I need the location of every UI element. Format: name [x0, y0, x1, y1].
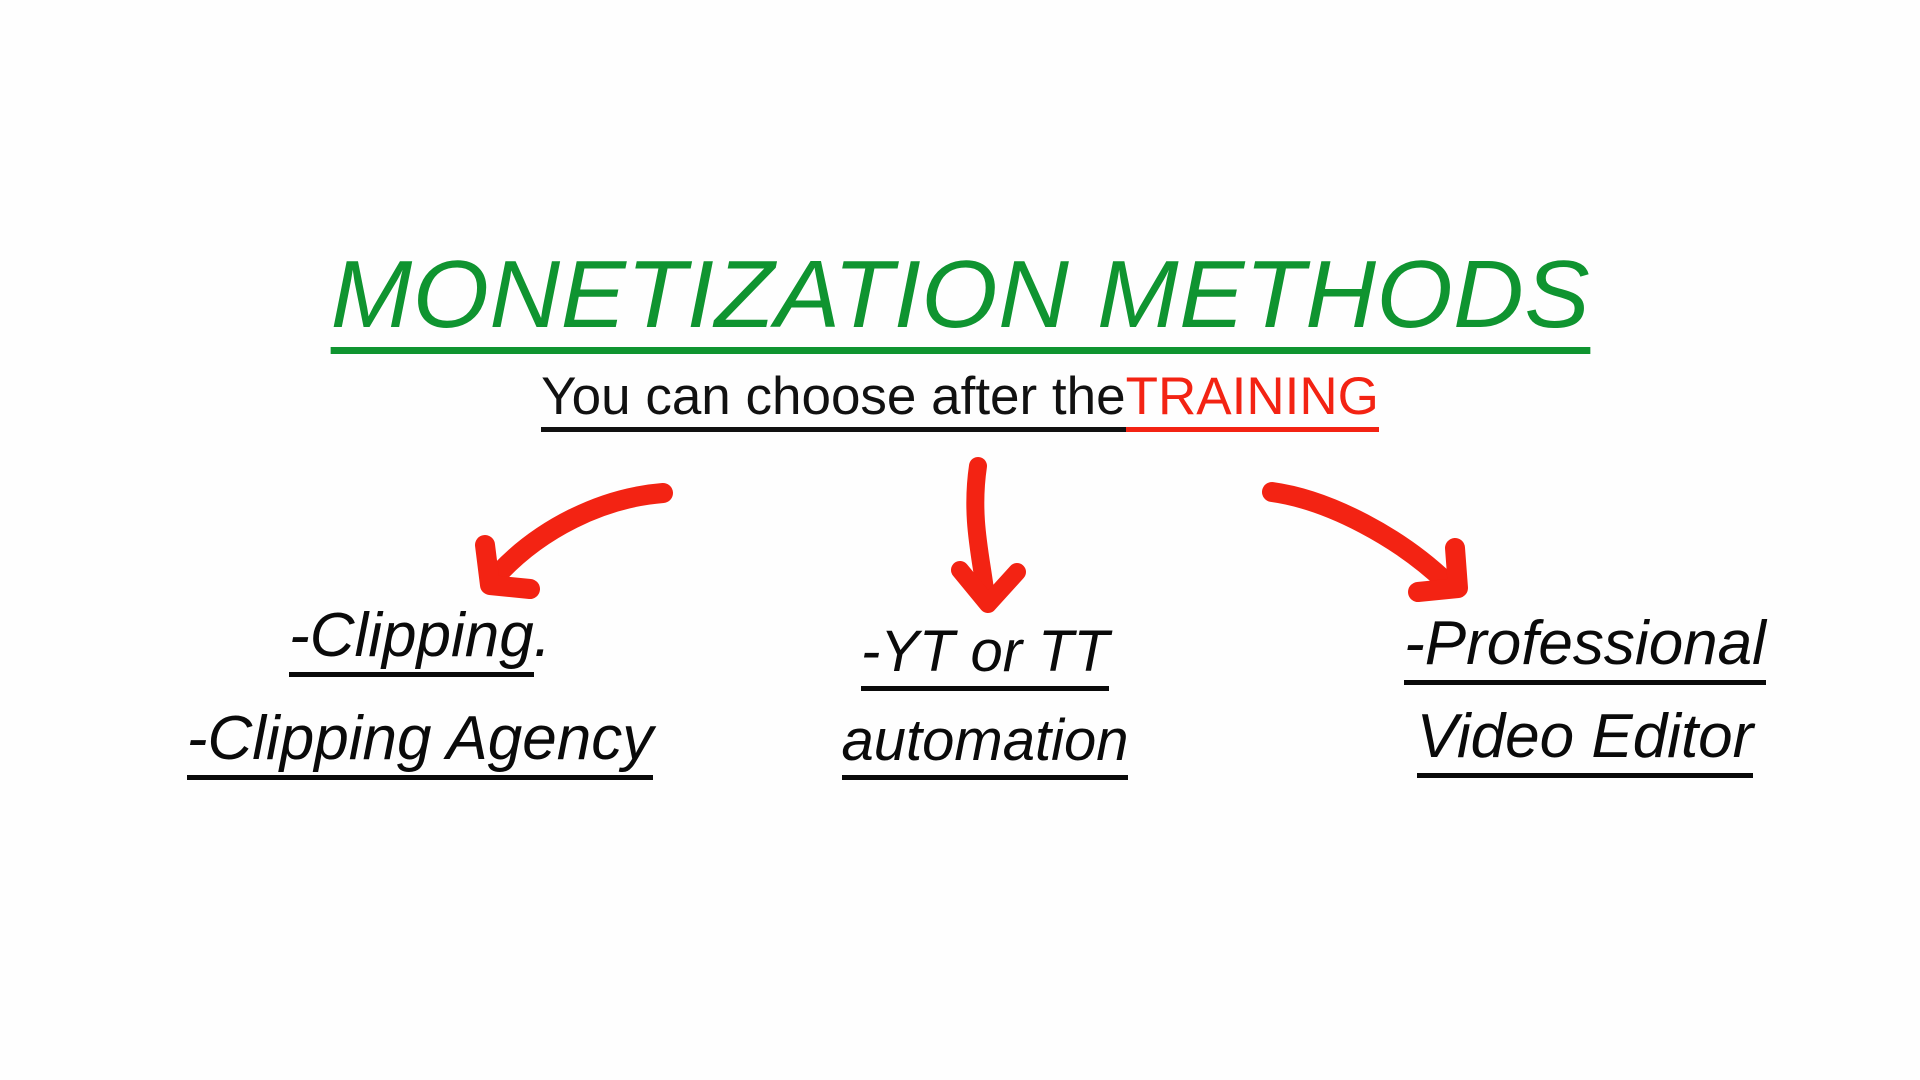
- option-line: -Clipping.: [110, 600, 730, 677]
- arrow-to-automation-icon: [960, 466, 1017, 604]
- subtitle-highlight-training: TRAINING: [1126, 368, 1379, 432]
- subtitle-lead-text: You can choose after the: [541, 368, 1125, 432]
- arrow-layer: [0, 0, 1920, 1080]
- option-column-clipping: -Clipping. -Clipping Agency: [110, 600, 730, 780]
- option-line-text: Video Editor: [1417, 701, 1754, 778]
- slide-canvas: MONETIZATION METHODS You can choose afte…: [0, 0, 1920, 1080]
- option-line: -Clipping Agency: [110, 703, 730, 780]
- option-line-text: automation: [842, 707, 1129, 780]
- arrow-to-clipping-icon: [485, 493, 663, 589]
- option-column-automation: -YT or TT automation: [690, 600, 1280, 768]
- options-row: -Clipping. -Clipping Agency -YT or TT au…: [0, 600, 1920, 860]
- option-line-text: -YT or TT: [861, 618, 1109, 691]
- option-line: -Professional: [1270, 608, 1900, 685]
- option-line-text: -Clipping: [289, 600, 534, 677]
- option-line: automation: [690, 707, 1280, 780]
- option-line-tail: .: [534, 600, 551, 671]
- page-title: MONETIZATION METHODS: [330, 246, 1590, 354]
- option-line: Video Editor: [1270, 701, 1900, 778]
- option-line: -YT or TT: [690, 618, 1280, 691]
- option-line-text: -Clipping Agency: [187, 703, 653, 780]
- option-column-video-editor: -Professional Video Editor: [1270, 600, 1900, 776]
- arrow-to-video-editor-icon: [1272, 492, 1458, 592]
- subtitle: You can choose after the TRAINING: [0, 368, 1920, 432]
- option-line-text: -Professional: [1404, 608, 1766, 685]
- header-block: MONETIZATION METHODS You can choose afte…: [0, 246, 1920, 432]
